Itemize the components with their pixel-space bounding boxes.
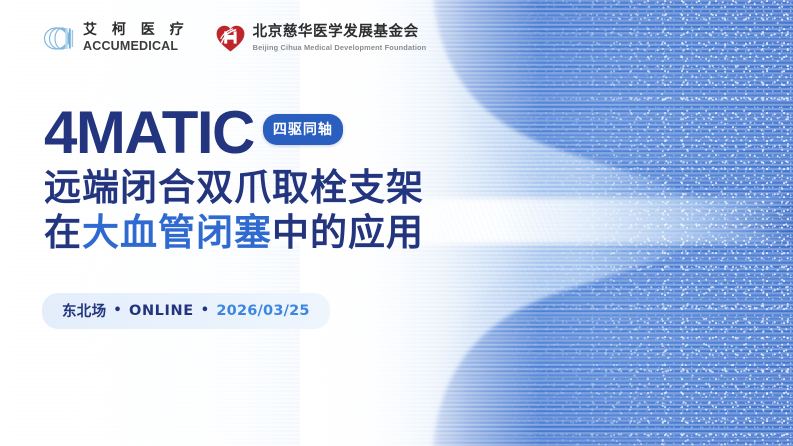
event-venue: 东北场 — [62, 300, 106, 321]
accumedical-name-cn: 艾 柯 医 疗 — [83, 23, 189, 37]
cihua-name-cn: 北京慈华医学发展基金会 — [253, 25, 427, 40]
accumedical-arcs-icon — [42, 24, 75, 53]
cihua-heart-icon — [215, 23, 246, 53]
accumedical-logo: 艾 柯 医 疗 ACCUMEDICAL — [42, 23, 189, 53]
headline-line3-part-c: 中的应用 — [272, 211, 424, 254]
product-brand-title: 4MATIC — [44, 104, 254, 161]
accumedical-name-en: ACCUMEDICAL — [83, 40, 189, 53]
poster-canvas: 艾 柯 医 疗 ACCUMEDICAL 北京慈华医学发展基金会 Beijing … — [0, 0, 793, 446]
accumedical-wordmark: 艾 柯 医 疗 ACCUMEDICAL — [82, 23, 189, 53]
cihua-foundation-logo: 北京慈华医学发展基金会 Beijing Cihua Medical Develo… — [215, 23, 427, 53]
event-mode: ONLINE — [129, 303, 194, 319]
headline-block: 4MATIC 四驱同轴 远端闭合双爪取栓支架 在大血管闭塞中的应用 — [44, 104, 424, 255]
cihua-name-en: Beijing Cihua Medical Development Founda… — [253, 44, 427, 51]
headline-line-3: 在大血管闭塞中的应用 — [44, 212, 424, 255]
event-date: 2026/03/25 — [216, 303, 309, 319]
headline-line3-highlight: 大血管闭塞 — [82, 211, 272, 254]
info-separator-1: • — [113, 303, 122, 318]
brand-row: 4MATIC 四驱同轴 — [44, 104, 424, 161]
feature-badge: 四驱同轴 — [263, 114, 343, 145]
speckle-texture-fine — [563, 0, 793, 446]
info-separator-2: • — [201, 303, 210, 318]
logo-bar: 艾 柯 医 疗 ACCUMEDICAL 北京慈华医学发展基金会 Beijing … — [42, 17, 426, 59]
headline-line3-part-a: 在 — [44, 211, 82, 254]
cihua-wordmark: 北京慈华医学发展基金会 Beijing Cihua Medical Develo… — [253, 25, 427, 51]
event-info-pill: 东北场 • ONLINE • 2026/03/25 — [42, 293, 330, 329]
headline-line-2: 远端闭合双爪取栓支架 — [44, 167, 424, 210]
